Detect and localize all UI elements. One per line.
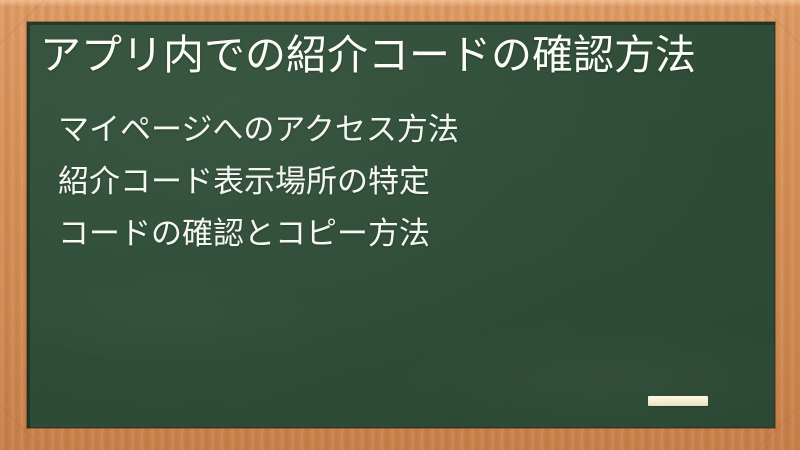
slide-topic-list: マイページへのアクセス方法 紹介コード表示場所の特定 コードの確認とコピー方法 bbox=[58, 104, 459, 260]
chalk-stick-icon bbox=[648, 396, 708, 406]
chalkboard-surface: アプリ内での紹介コードの確認方法 マイページへのアクセス方法 紹介コード表示場所… bbox=[27, 22, 775, 428]
list-item: 紹介コード表示場所の特定 bbox=[58, 156, 459, 208]
list-item: コードの確認とコピー方法 bbox=[58, 208, 459, 260]
list-item: マイページへのアクセス方法 bbox=[58, 104, 459, 156]
slide-title: アプリ内での紹介コードの確認方法 bbox=[40, 30, 696, 81]
blackboard-slide: アプリ内での紹介コードの確認方法 マイページへのアクセス方法 紹介コード表示場所… bbox=[0, 0, 800, 450]
